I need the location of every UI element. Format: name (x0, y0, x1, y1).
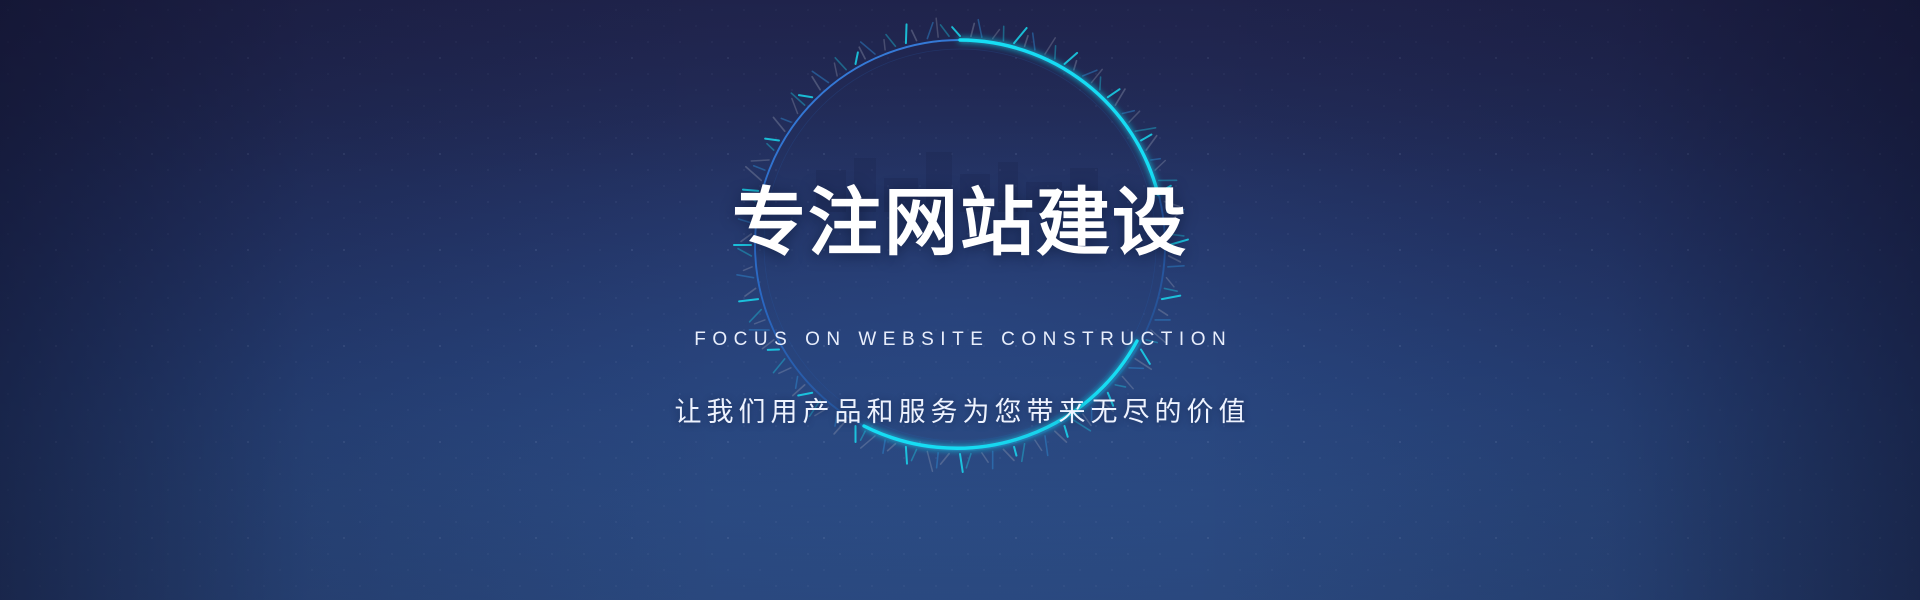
banner-subtitle-english: FOCUS ON WEBSITE CONSTRUCTION (688, 330, 1232, 349)
banner-tagline: 让我们用产品和服务为您带来无尽的价值 (670, 399, 1251, 426)
page-title: 专注网站建设 (732, 186, 1188, 260)
hero-banner: 专注网站建设 FOCUS ON WEBSITE CONSTRUCTION 让我们… (0, 0, 1920, 600)
banner-text-block: 专注网站建设 FOCUS ON WEBSITE CONSTRUCTION 让我们… (0, 0, 1920, 600)
